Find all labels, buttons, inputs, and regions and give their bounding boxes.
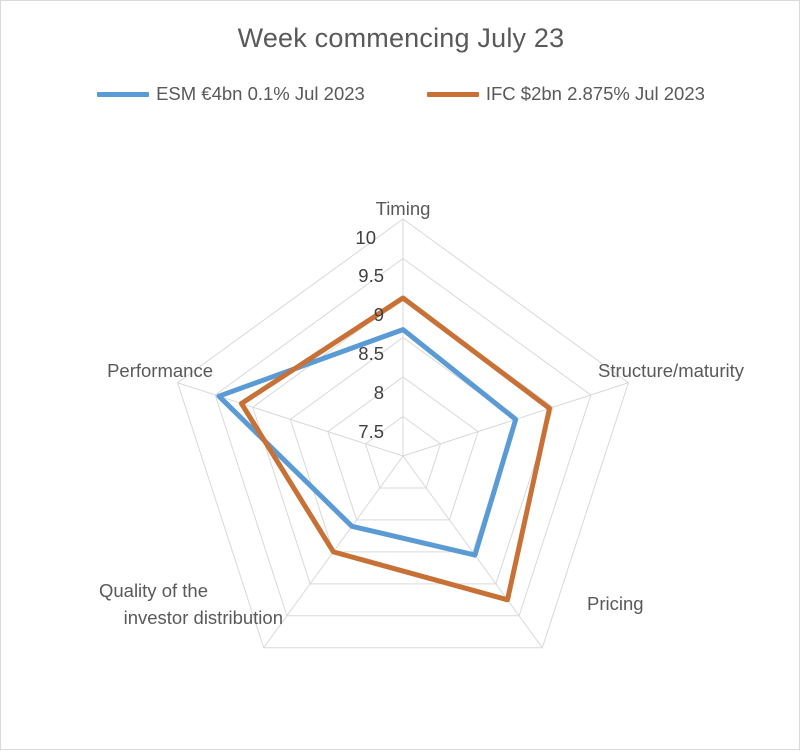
axis-label-structure-maturity: Structure/maturity [598,360,745,381]
radial-tick-8-5: 8.5 [358,343,384,364]
axis-label-quality-line2: investor distribution [124,607,283,628]
grid-spoke-4 [178,383,403,456]
axis-label-performance: Performance [107,360,213,381]
radial-tick-8: 8 [374,382,384,403]
radial-tick-9: 9 [374,304,384,325]
radial-axis-ticks: 10 9.5 9 8.5 8 7.5 [355,227,384,442]
radar-plot: 10 9.5 9 8.5 8 7.5 Timing Structure/matu… [1,1,800,751]
radar-series-group [219,298,550,600]
chart-container: Week commencing July 23 ESM €4bn 0.1% Ju… [0,0,800,750]
radial-tick-7-5: 7.5 [358,421,384,442]
axis-label-quality-line1: Quality of the [99,580,208,601]
radial-tick-10: 10 [355,227,376,248]
axis-label-pricing: Pricing [587,593,644,614]
axis-label-timing: Timing [376,198,431,219]
category-axis-labels: Timing Structure/maturity Pricing Qualit… [99,198,745,628]
radial-tick-9-5: 9.5 [358,265,384,286]
